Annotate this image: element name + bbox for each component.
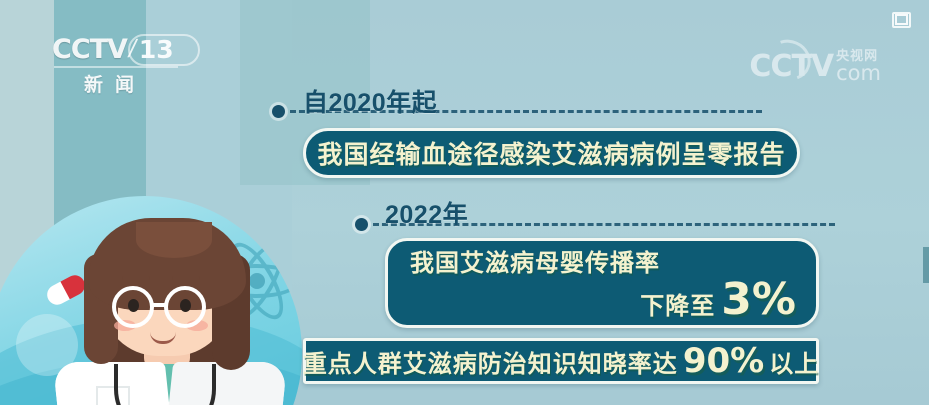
fact-text-2-line-a: 我国艾滋病母婴传播率 [410,243,796,278]
watermark-com-text: com [836,63,881,84]
fact-value-3: 90% [683,344,764,378]
right-edge-marker [923,247,929,283]
fact-pill-3: 重点人群艾滋病防治知识知晓率达 90% 以上 [303,338,819,384]
doctor-eyebrow-right [172,276,200,280]
logo-underline [54,66,178,68]
cctv13-logo: CCTV / 13 新闻 [52,32,202,94]
logo-subtitle: 新闻 [84,70,146,97]
doctor-eyebrow-left [122,276,150,280]
cctv-com-watermark: CCTV 央视网 com [749,40,881,84]
bullet-dot-icon [355,218,368,231]
fact-pill-1: 我国经输血途径感染艾滋病病例呈零报告 [303,128,800,178]
broadcast-frame: CCTV / 13 新闻 CCTV 央视网 com [0,0,929,405]
glasses-icon-left [112,286,154,328]
logo-cctv-text: CCTV [52,34,127,65]
glasses-bridge [152,303,168,307]
fact-pill-2: 我国艾滋病母婴传播率 下降至 3% [385,238,819,328]
fact-text-1: 我国经输血途径感染艾滋病病例呈零报告 [318,135,786,171]
year-label-2: 2022年 [385,195,468,231]
doctor-hair-fringe [136,222,212,258]
picture-in-picture-icon[interactable] [892,12,911,28]
doctor-character [40,214,290,405]
fact-text-3-before: 重点人群艾滋病防治知识知晓率达 [303,344,678,379]
fact-text-3-after: 以上 [769,344,819,379]
fact-text-2-label: 下降至 [640,286,715,321]
bullet-dot-icon [272,105,285,118]
fact-value-2: 3% [721,280,796,320]
logo-capsule-shape [128,34,200,66]
stethoscope-icon [114,364,216,405]
glasses-icon-right [164,286,206,328]
year-label-1: 自2020年起 [303,83,437,119]
